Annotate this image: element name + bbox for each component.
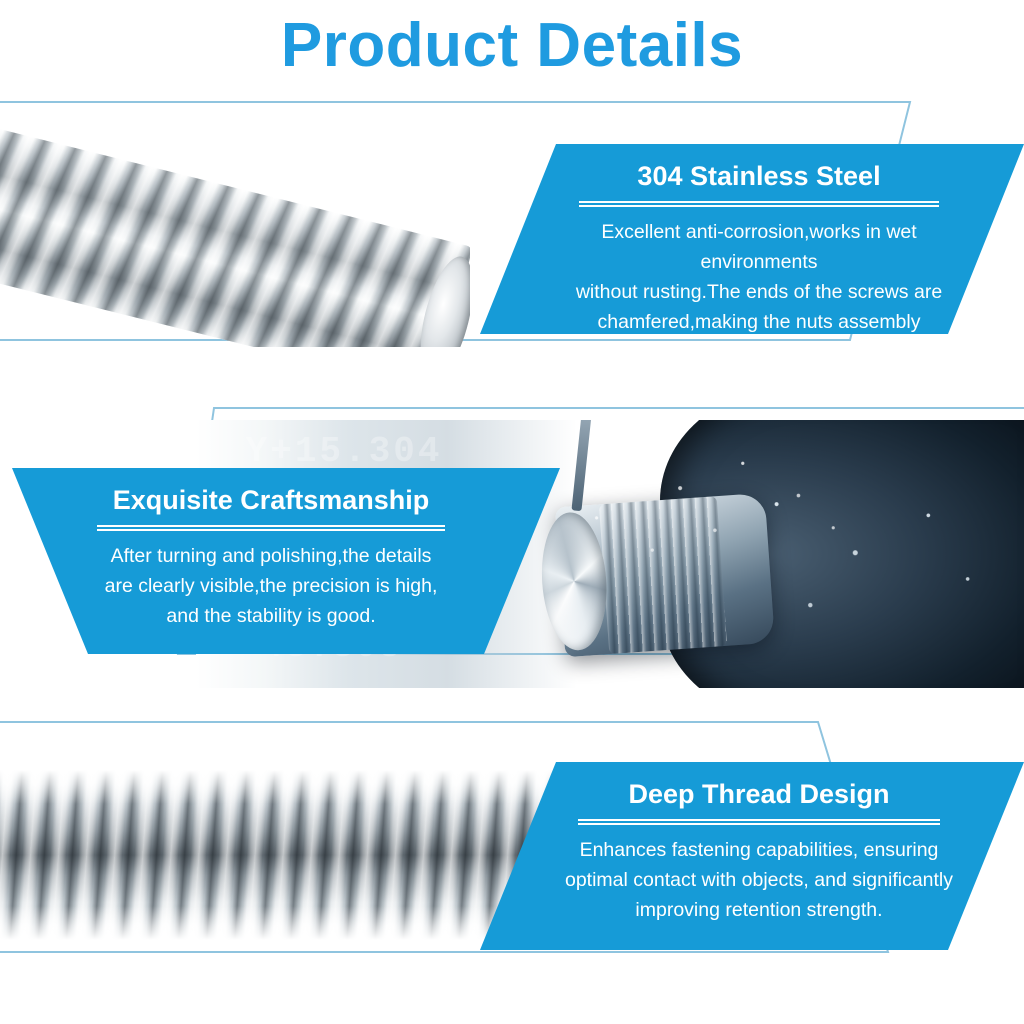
coolant-spray — [726, 463, 1008, 651]
callout-divider-1 — [579, 201, 939, 207]
rod-thread-highlight — [0, 121, 470, 347]
callout-body-3: Enhances fastening capabilities, ensurin… — [552, 835, 966, 926]
callout-body-line: smoother and more convenient. — [552, 338, 966, 368]
callout-body-line: chamfered,making the nuts assembly — [552, 307, 966, 337]
callout-body-line: are clearly visible,the precision is hig… — [68, 571, 474, 601]
callout-content-1: 304 Stainless Steel Excellent anti-corro… — [480, 144, 1024, 368]
callout-content-2: Exquisite Craftsmanship After turning an… — [12, 468, 560, 631]
callout-divider-2 — [97, 525, 445, 531]
callout-body-1: Excellent anti-corrosion,works in wet en… — [552, 217, 966, 368]
callout-body-line: and the stability is good. — [68, 601, 474, 631]
callout-body-line: improving retention strength. — [552, 895, 966, 925]
feature-callout-2: Exquisite Craftsmanship After turning an… — [12, 468, 560, 654]
callout-body-line: Enhances fastening capabilities, ensurin… — [552, 835, 966, 865]
feature-section-2: Y+15.304 304 DR- 43.303 Exquisite Crafts… — [0, 398, 1024, 698]
callout-body-line: without rusting.The ends of the screws a… — [552, 277, 966, 307]
rod-graphic — [0, 121, 470, 347]
product-photo-threaded-rod — [0, 97, 470, 347]
cnc-readout-line-1: Y+15.304 — [246, 431, 443, 472]
callout-body-line: optimal contact with objects, and signif… — [552, 865, 966, 895]
callout-body-line: After turning and polishing,the details — [68, 541, 474, 571]
feature-callout-1: 304 Stainless Steel Excellent anti-corro… — [480, 144, 1024, 334]
callout-body-2: After turning and polishing,the details … — [68, 541, 474, 632]
feature-callout-3: Deep Thread Design Enhances fastening ca… — [480, 762, 1024, 950]
callout-content-3: Deep Thread Design Enhances fastening ca… — [480, 762, 1024, 925]
callout-body-line: Excellent anti-corrosion,works in wet en… — [552, 217, 966, 277]
feature-section-1: 304 Stainless Steel Excellent anti-corro… — [0, 92, 1024, 392]
page-header: Product Details — [0, 0, 1024, 92]
callout-heading-2: Exquisite Craftsmanship — [68, 486, 474, 516]
callout-heading-1: 304 Stainless Steel — [552, 162, 966, 192]
feature-section-3: Deep Thread Design Enhances fastening ca… — [0, 712, 1024, 1024]
page-title: Product Details — [281, 15, 743, 77]
callout-divider-3 — [578, 819, 940, 825]
callout-heading-3: Deep Thread Design — [552, 780, 966, 810]
